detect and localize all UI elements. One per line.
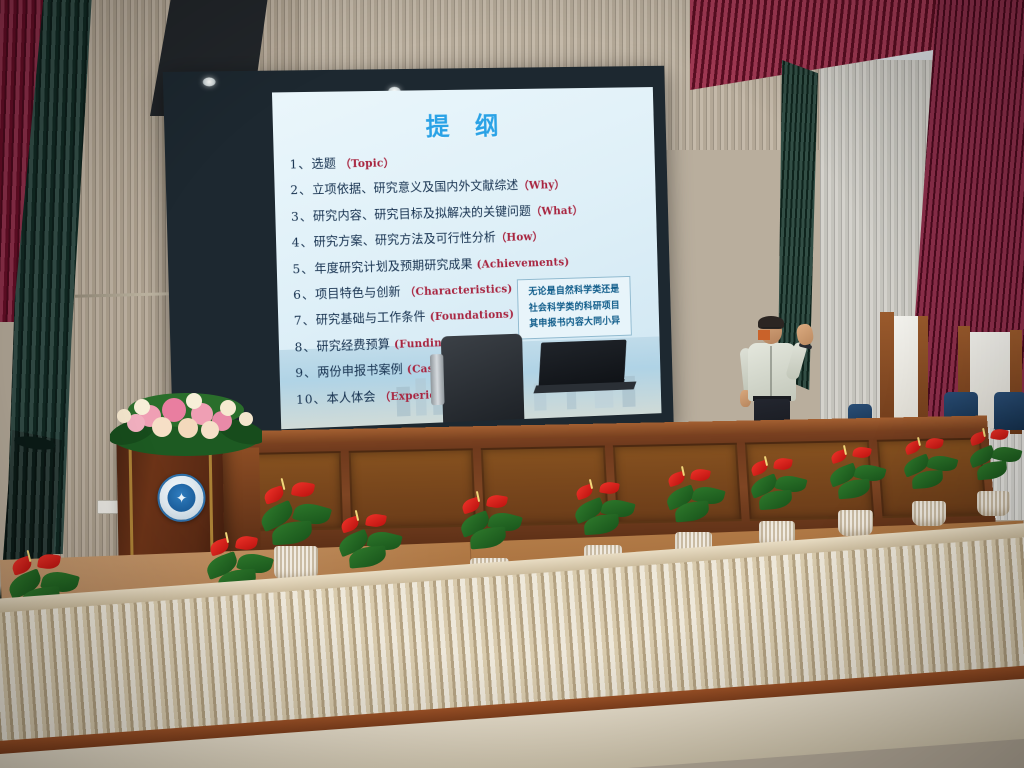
list-item-zh: 研究经费预算 [316,336,390,353]
emblem-inner-disc: ✦ [167,484,195,512]
potted-plant [822,438,900,536]
list-item-number: 6、 [293,286,315,302]
list-item-number: 5、 [292,260,314,275]
list-item-number: 8、 [294,339,316,355]
podium-flower-arrangement [110,392,262,458]
potted-plant [896,430,972,526]
desk-chair-occluder [441,334,525,427]
list-item-en: （How） [496,230,543,244]
list-item-number: 9、 [295,365,317,381]
list-item-number: 2、 [290,182,312,197]
list-item-number: 7、 [294,313,316,329]
thermos-occluder [430,354,445,405]
list-item-number: 1、 [289,156,311,171]
slide-callout-box: 无论是自然科学类还是 社会科学类的科研项目 其申报书内容大同小异 [517,276,632,340]
list-item-en: （Characteristics) [405,282,513,298]
flower-arrangement-graphic [110,392,262,458]
stage-marker [758,330,770,340]
list-item-en: （Why） [518,179,565,193]
list-item-number: 3、 [291,208,313,223]
callout-line-3: 其申报书内容大同小异 [523,314,628,334]
spotlight-icon [203,77,216,86]
emblem-mark-icon: ✦ [175,491,187,505]
list-item-zh: 年度研究计划及预期研究成果 [314,256,473,275]
slide-surface: 提 纲 1、选题 （Topic） 2、立项依据、研究意义及国内外文献综述（Why… [272,87,662,429]
list-item-zh: 研究方案、研究方法及可行性分析 [313,230,496,250]
potted-plant [742,448,822,548]
list-item-en: (Foundations) [430,308,515,323]
list-item-zh: 项目特色与创新 [315,284,401,301]
list-item: 2、立项依据、研究意义及国内外文献综述（Why） [290,172,650,199]
list-item-zh: 研究基础与工作条件 [316,309,426,327]
university-emblem: ✦ [157,473,206,522]
list-item: 1、选题 （Topic） [289,147,649,173]
list-item-number: 10、 [296,390,327,406]
list-item-en: (Achievements) [476,255,569,270]
list-item-zh: 研究内容、研究目标及拟解决的关键问题 [313,203,531,223]
list-item-number: 4、 [292,234,314,249]
list-item-en: （Topic） [340,156,395,170]
list-item-zh: 立项依据、研究意义及国内外文献综述 [312,178,519,197]
slide-title: 提 纲 [272,104,654,146]
potted-plant [962,422,1024,516]
presenter-shirt-placket [770,346,772,398]
list-item-zh: 选题 [311,156,336,171]
potted-plant [252,468,338,580]
list-item-en: （What） [531,204,583,218]
list-item: 4、研究方案、研究方法及可行性分析（How） [291,223,651,251]
list-item: 5、年度研究计划及预期研究成果 (Achievements) [292,248,652,277]
photo-scene: 提 纲 1、选题 （Topic） 2、立项依据、研究意义及国内外文献综述（Why… [0,0,1024,768]
list-item-zh: 本人体会 [326,388,375,405]
list-item-zh: 两份申报书案例 [317,361,403,379]
list-item: 3、研究内容、研究目标及拟解决的关键问题（What） [291,197,651,224]
